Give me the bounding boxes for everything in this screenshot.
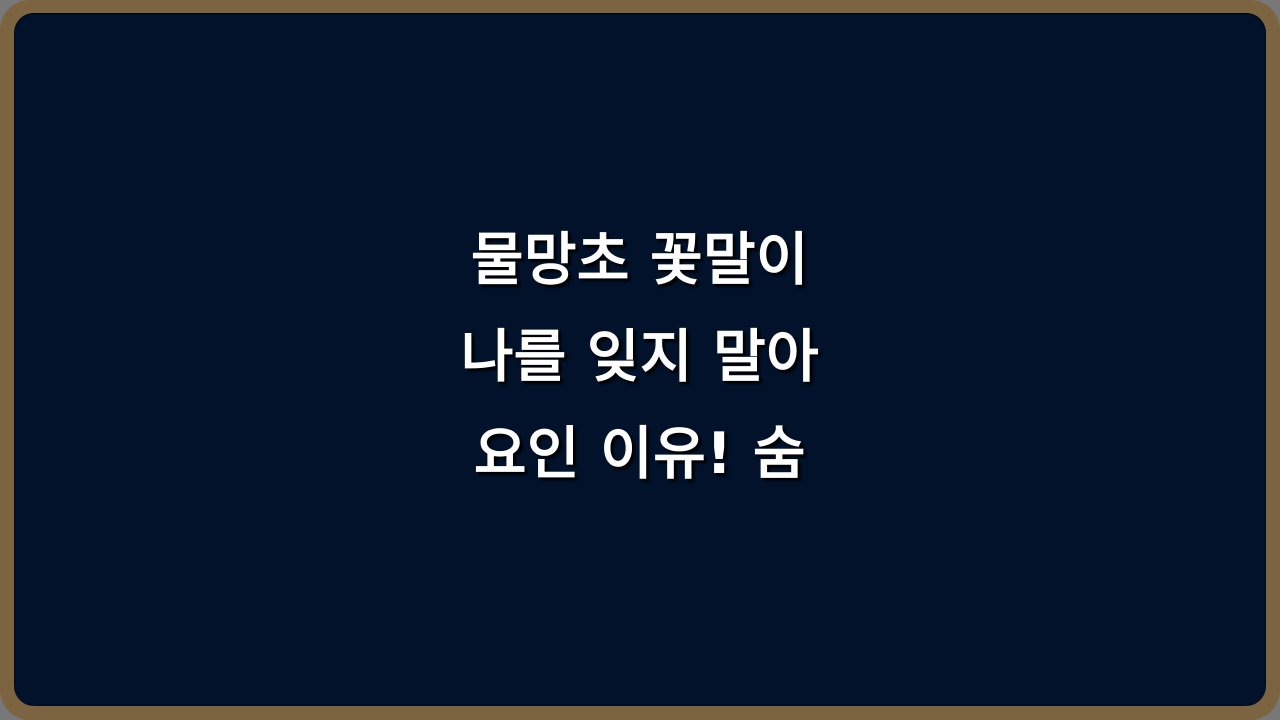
- slide-panel: 물망초 꽃말이 나를 잊지 말아 요인 이유! 숨: [14, 13, 1266, 706]
- caption-line-2: 나를 잊지 말아: [14, 309, 1266, 406]
- video-stage: 물망초 꽃말이 나를 잊지 말아 요인 이유! 숨: [0, 0, 1280, 720]
- caption-line-3: 요인 이유! 숨: [14, 406, 1266, 503]
- caption-line-1: 물망초 꽃말이: [14, 212, 1266, 309]
- caption-block: 물망초 꽃말이 나를 잊지 말아 요인 이유! 숨: [14, 13, 1266, 706]
- slide-frame-border: 물망초 꽃말이 나를 잊지 말아 요인 이유! 숨: [0, 0, 1280, 720]
